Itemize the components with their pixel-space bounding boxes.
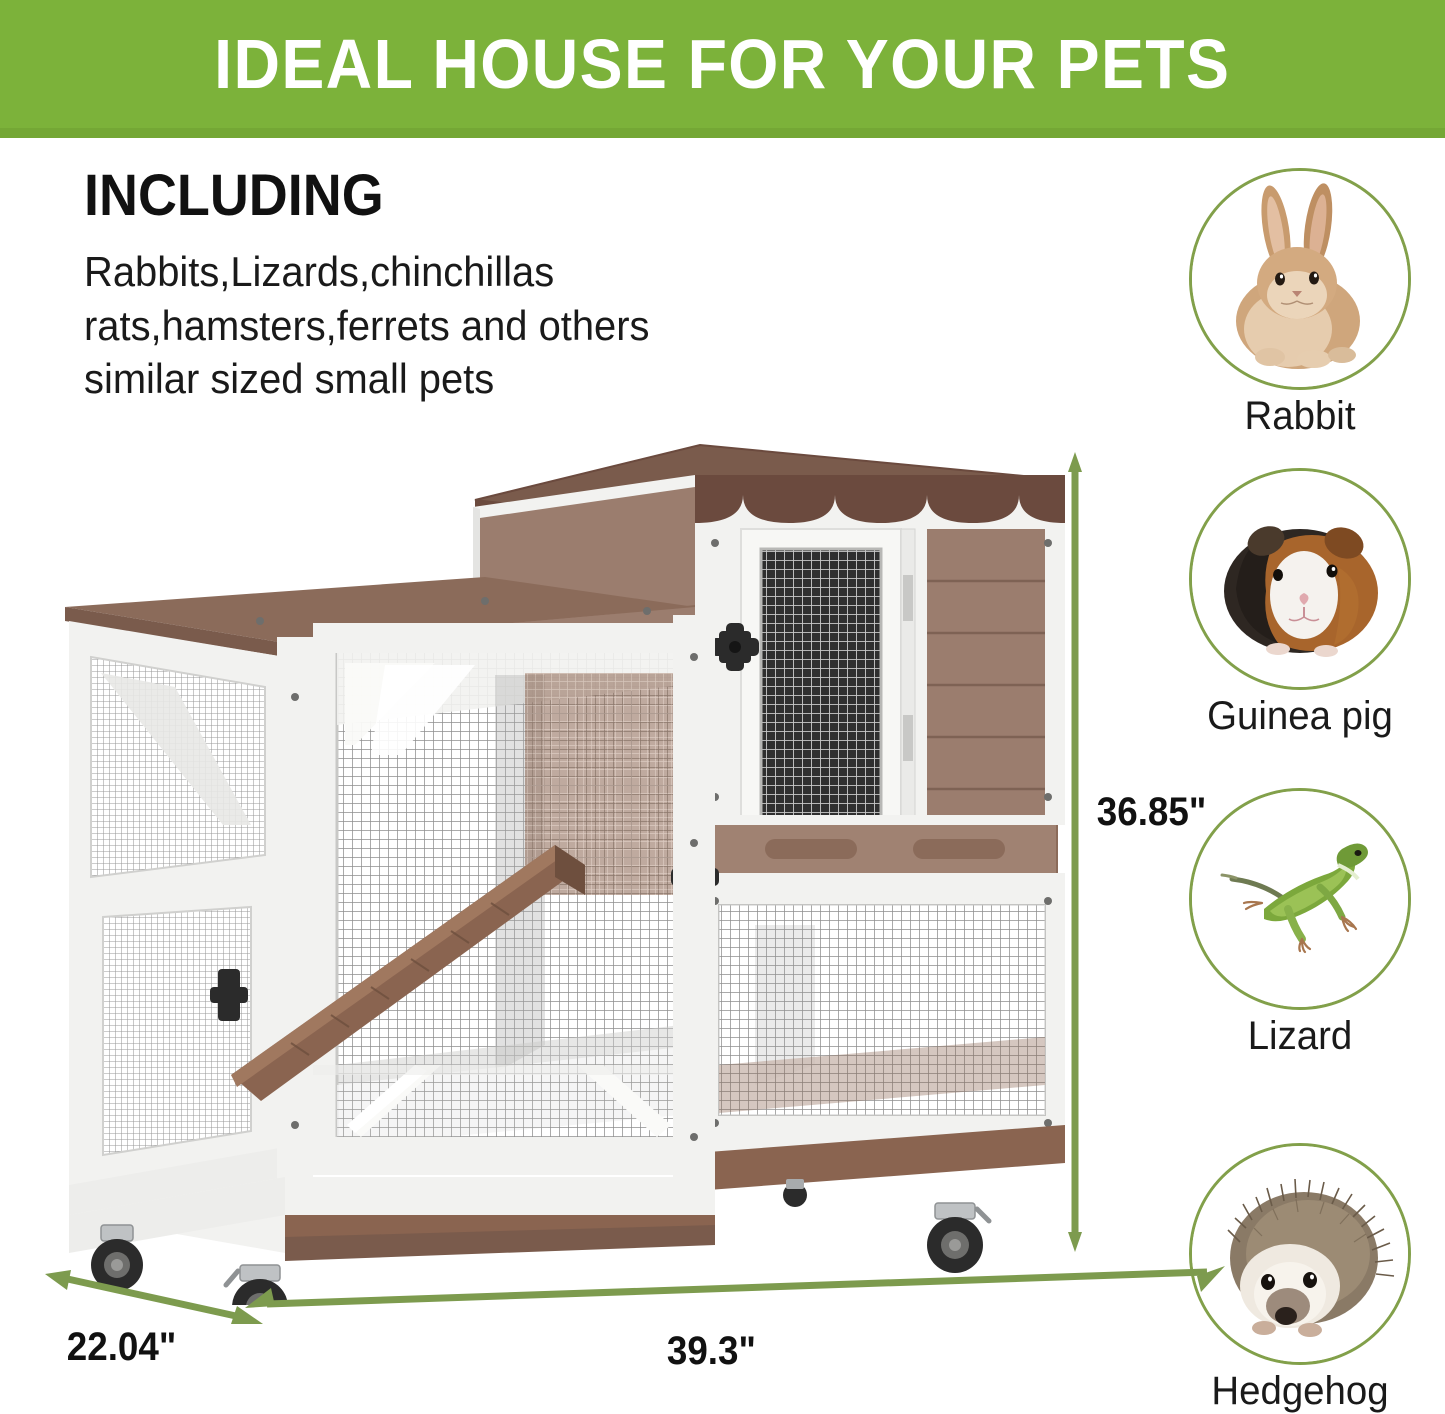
including-heading: INCLUDING — [84, 166, 735, 227]
front-left-post — [277, 637, 313, 1197]
rabbit-hutch-illustration — [55, 425, 1065, 1305]
upper-door-mesh-panel — [761, 549, 881, 829]
including-section: INCLUDING Rabbits,Lizards,chinchillas ra… — [84, 166, 784, 406]
upper-siding — [927, 529, 1045, 849]
width-dimension-label: 39.3" — [667, 1329, 756, 1374]
caster-right-rear — [783, 1179, 807, 1207]
product-image — [55, 425, 1065, 1305]
upper-door-hinge-bottom — [903, 715, 913, 761]
guinea-pig-circle — [1189, 468, 1411, 690]
rabbit-photo — [1192, 171, 1408, 387]
including-line-1: Rabbits,Lizards,chinchillas — [84, 245, 749, 299]
height-dimension-arrow — [1068, 452, 1082, 1252]
width-dimension-arrow — [245, 1262, 1225, 1308]
including-line-3: similar sized small pets — [84, 352, 749, 406]
rabbit-circle — [1189, 168, 1411, 390]
upper-door-hinge-top — [903, 575, 913, 621]
hedgehog-photo-circle — [1189, 1143, 1411, 1365]
lizard-photo — [1192, 791, 1408, 1007]
banner-bottom-edge — [0, 128, 1445, 138]
lizard-circle — [1189, 788, 1411, 1010]
tray-handle-left — [765, 839, 857, 859]
depth-dimension-arrow — [45, 1268, 265, 1328]
including-body: Rabbits,Lizards,chinchillas rats,hamster… — [84, 245, 784, 406]
pet-label-hedgehog: Hedgehog — [1175, 1369, 1425, 1414]
page-title: IDEAL HOUSE FOR YOUR PETS — [214, 24, 1230, 104]
including-line-2: rats,hamsters,ferrets and others — [84, 299, 749, 353]
pet-label-lizard: Lizard — [1175, 1014, 1425, 1059]
pet-label-rabbit: Rabbit — [1175, 394, 1425, 439]
guinea-pig-photo — [1192, 471, 1408, 687]
header-banner: IDEAL HOUSE FOR YOUR PETS — [0, 0, 1445, 128]
depth-dimension-label: 22.04" — [67, 1325, 177, 1370]
center-post — [673, 615, 715, 1185]
pet-label-guinea-pig: Guinea pig — [1175, 694, 1425, 739]
hedgehog-photo — [1192, 1146, 1408, 1362]
pet-item-lizard: Lizard — [1170, 788, 1430, 1059]
pet-item-guinea-pig: Guinea pig — [1170, 468, 1430, 739]
pet-item-rabbit: Rabbit — [1170, 168, 1430, 439]
height-dimension-label: 36.85" — [1097, 790, 1207, 835]
tray-handle-right — [913, 839, 1005, 859]
